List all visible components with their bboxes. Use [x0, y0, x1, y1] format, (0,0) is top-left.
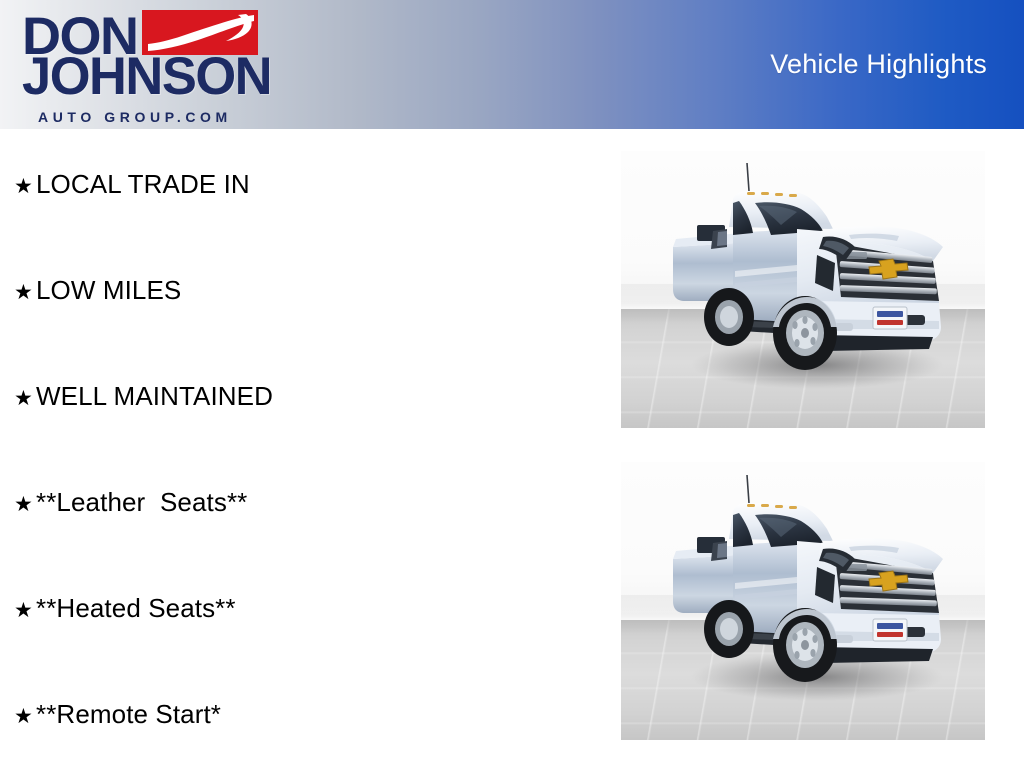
highlight-label: **Remote Start*: [36, 701, 221, 727]
logo-tagline: AUTO GROUP.COM: [38, 109, 232, 125]
star-bullet-icon: ★: [14, 282, 36, 303]
list-item: ★ **Leather Seats**: [14, 489, 247, 515]
dealer-logo[interactable]: DON JOHNSON AUTO GROUP.COM: [12, 4, 260, 128]
truck-illustration: [621, 151, 985, 428]
star-bullet-icon: ★: [14, 388, 36, 409]
list-item: ★ LOW MILES: [14, 277, 181, 303]
truck-illustration: [621, 462, 985, 740]
vehicle-highlights-list: ★ LOCAL TRADE IN ★ LOW MILES ★ WELL MAIN…: [0, 129, 610, 768]
vehicle-photo-1[interactable]: [621, 151, 985, 428]
page-title: Vehicle Highlights: [770, 49, 987, 80]
list-item: ★ **Remote Start*: [14, 701, 221, 727]
star-bullet-icon: ★: [14, 494, 36, 515]
star-bullet-icon: ★: [14, 600, 36, 621]
highlight-label: LOW MILES: [36, 277, 181, 303]
highlight-label: **Leather Seats**: [36, 489, 247, 515]
star-bullet-icon: ★: [14, 706, 36, 727]
highlight-label: LOCAL TRADE IN: [36, 171, 250, 197]
vehicle-photo-2[interactable]: [621, 462, 985, 740]
highlight-label: **Heated Seats**: [36, 595, 236, 621]
logo-text-johnson: JOHNSON: [22, 50, 271, 103]
list-item: ★ **Heated Seats**: [14, 595, 236, 621]
star-bullet-icon: ★: [14, 176, 36, 197]
list-item: ★ WELL MAINTAINED: [14, 383, 273, 409]
list-item: ★ LOCAL TRADE IN: [14, 171, 250, 197]
highlight-label: WELL MAINTAINED: [36, 383, 273, 409]
